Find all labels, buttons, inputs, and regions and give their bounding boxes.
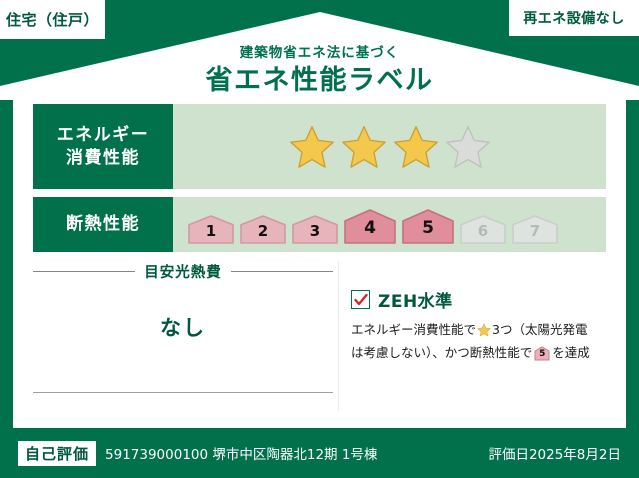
energy-performance-label: 住宅（住戸） 再エネ設備なし 建築物省エネ法に基づく 省エネ性能ラベル エネルギ…: [0, 0, 639, 478]
self-evaluation-badge: 自己評価: [18, 441, 96, 466]
insulation-level-value: 1: [187, 224, 235, 239]
zeh-desc-stars: 3つ（太陽光発電: [492, 322, 587, 337]
insulation-level-value: 7: [511, 224, 559, 239]
card-vertical-divider: [338, 261, 339, 411]
star-icon-filled: [341, 124, 387, 170]
row-energy-performance: エネルギー 消費性能: [33, 104, 606, 189]
insulation-badge-inline: 5: [534, 346, 550, 367]
insulation-level-scale: 1234567: [173, 197, 606, 252]
star-icon-inline: [477, 323, 491, 343]
tag-building-type: 住宅（住戸）: [0, 0, 105, 39]
star-rating: [173, 104, 606, 189]
row-energy-performance-label-line1: エネルギー: [57, 124, 150, 147]
zeh-desc-part1: エネルギー消費性能で: [351, 322, 476, 337]
footer-evaluation-date: 評価日2025年8月2日: [488, 443, 621, 463]
footer-id-address: 591739000100 堺市中区陶器北12期 1号棟: [105, 443, 377, 463]
insulation-level-badge: 5: [401, 205, 455, 245]
utility-cost-heading: 目安光熱費: [33, 261, 333, 282]
rule-line-left: [33, 271, 135, 272]
star-icon-filled: [393, 124, 439, 170]
utility-cost-bottom-rule: [33, 392, 333, 393]
tag-renewable-equipment: 再エネ設備なし: [509, 0, 639, 36]
zeh-desc-part2: は考慮しない）、かつ断熱性能で: [351, 345, 532, 360]
zeh-checkbox[interactable]: [351, 290, 370, 309]
utility-cost-block: 目安光熱費 なし: [33, 261, 333, 342]
utility-cost-value: なし: [33, 312, 333, 342]
row-energy-performance-label-line2: 消費性能: [66, 147, 140, 170]
zeh-description: エネルギー消費性能で 3つ（太陽光発電 は考慮しない）、かつ断熱性能で 5 を達…: [351, 320, 609, 368]
check-icon: [354, 293, 368, 307]
label-title: 省エネ性能ラベル: [0, 58, 639, 97]
star-icon-empty: [445, 124, 491, 170]
label-footer: 自己評価 591739000100 堺市中区陶器北12期 1号棟 評価日2025…: [0, 428, 639, 478]
insulation-level-badge: 7: [511, 205, 559, 245]
insulation-level-badge: 1: [187, 205, 235, 245]
zeh-header: ZEH水準: [351, 287, 609, 312]
zeh-title: ZEH水準: [378, 287, 453, 312]
utility-cost-title: 目安光熱費: [144, 261, 222, 282]
insulation-level-badge: 3: [291, 205, 339, 245]
insulation-level-value: 4: [343, 220, 397, 237]
insulation-level-value: 2: [239, 224, 287, 239]
row-insulation-performance-label-text: 断熱性能: [66, 213, 140, 236]
insulation-badge-inline-value: 5: [534, 350, 550, 359]
insulation-level-badge: 4: [343, 205, 397, 245]
star-icon-filled: [289, 124, 335, 170]
row-insulation-performance-label: 断熱性能: [33, 197, 173, 252]
zeh-standard-block: ZEH水準 エネルギー消費性能で 3つ（太陽光発電 は考慮しない）、かつ断熱性能…: [351, 287, 609, 368]
insulation-level-value: 5: [401, 220, 455, 237]
label-card: エネルギー 消費性能 断熱性能 1234567 目安光熱費 なし: [13, 93, 626, 428]
row-insulation-performance: 断熱性能 1234567: [33, 197, 606, 252]
insulation-level-value: 6: [459, 224, 507, 239]
insulation-level-badge: 2: [239, 205, 287, 245]
zeh-desc-part3: を達成: [552, 345, 590, 360]
rule-line-right: [231, 271, 333, 272]
insulation-level-badge: 6: [459, 205, 507, 245]
row-energy-performance-label: エネルギー 消費性能: [33, 104, 173, 189]
tag-building-type-label: 住宅（住戸）: [6, 9, 99, 30]
tag-renewable-equipment-label: 再エネ設備なし: [523, 8, 625, 28]
insulation-level-value: 3: [291, 224, 339, 239]
